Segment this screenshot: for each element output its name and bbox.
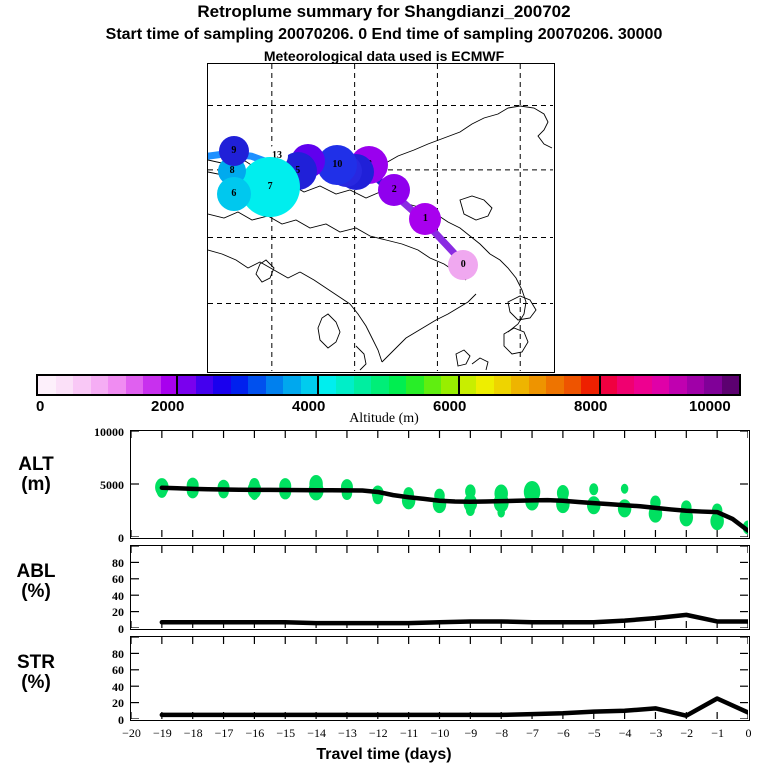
y-tick-label: 20 xyxy=(68,605,124,620)
x-tick-label: −1 xyxy=(701,726,735,741)
y-tick-label: 5000 xyxy=(68,478,124,493)
x-tick-label: −9 xyxy=(454,726,488,741)
x-tick-label: −3 xyxy=(639,726,673,741)
trajectory-marker-label: 7 xyxy=(268,182,273,192)
abl-row-label: ABL(%) xyxy=(6,562,66,602)
trajectory-marker-label: 8 xyxy=(230,166,235,176)
x-tick-label: −16 xyxy=(238,726,272,741)
str-row-label: STR(%) xyxy=(6,653,66,693)
y-tick-label: 80 xyxy=(68,647,124,662)
trajectory-marker: 9 xyxy=(219,136,249,166)
trajectory-marker-label: 0 xyxy=(461,260,466,270)
trajectory-marker-label: 1 xyxy=(423,214,428,224)
trajectory-map: 012312111045137869 xyxy=(207,63,555,373)
map-vector-layer xyxy=(208,64,553,371)
row-label-unit: (%) xyxy=(6,673,66,693)
str-panel xyxy=(130,636,750,721)
x-tick-label: −12 xyxy=(361,726,395,741)
y-tick-label: 60 xyxy=(68,572,124,587)
x-tick-label: −11 xyxy=(392,726,426,741)
x-tick-label: −13 xyxy=(330,726,364,741)
x-tick-label: −7 xyxy=(516,726,550,741)
trajectory-marker: 2 xyxy=(378,174,410,206)
y-tick-label: 60 xyxy=(68,663,124,678)
x-tick-label: −10 xyxy=(423,726,457,741)
row-label-name: ALT xyxy=(6,455,66,475)
y-tick-label: 40 xyxy=(68,589,124,604)
meteorological-data-note: Meteorological data used is ECMWF xyxy=(0,48,768,64)
x-tick-label: −5 xyxy=(577,726,611,741)
y-tick-label: 0 xyxy=(68,531,124,546)
row-label-name: ABL xyxy=(6,562,66,582)
x-tick-label: −15 xyxy=(269,726,303,741)
y-tick-label: 0 xyxy=(68,622,124,637)
x-tick-label: −4 xyxy=(608,726,642,741)
x-tick-label: −2 xyxy=(670,726,704,741)
x-tick-label: −6 xyxy=(546,726,580,741)
alt-panel xyxy=(130,430,750,539)
y-tick-label: 40 xyxy=(68,680,124,695)
str-plot-svg xyxy=(131,637,748,719)
abl-panel xyxy=(130,545,750,630)
x-tick-label: −17 xyxy=(207,726,241,741)
row-label-name: STR xyxy=(6,653,66,673)
alt-plot-svg xyxy=(131,431,748,537)
y-tick-label: 20 xyxy=(68,696,124,711)
alt-row-label: ALT(m) xyxy=(6,455,66,495)
trajectory-marker-label: 10 xyxy=(332,160,342,170)
trajectory-marker: 6 xyxy=(217,177,251,211)
x-tick-label: −14 xyxy=(300,726,334,741)
row-label-unit: (%) xyxy=(6,582,66,602)
trajectory-marker-label: 2 xyxy=(392,185,397,195)
sampling-time-subtitle: Start time of sampling 20070206. 0 End t… xyxy=(0,26,768,44)
x-tick-label: 0 xyxy=(732,726,766,741)
colorbar-separators xyxy=(36,374,741,396)
trajectory-marker-label: 9 xyxy=(231,146,236,156)
x-tick-label: −19 xyxy=(145,726,179,741)
x-axis-label: Travel time (days) xyxy=(0,746,768,764)
y-tick-label: 10000 xyxy=(68,425,124,440)
trajectory-marker: 1 xyxy=(409,203,441,235)
trajectory-marker-label: 6 xyxy=(231,189,236,199)
x-tick-label: −8 xyxy=(485,726,519,741)
y-tick-label: 80 xyxy=(68,556,124,571)
x-tick-label: −18 xyxy=(176,726,210,741)
x-tick-label: −20 xyxy=(115,726,149,741)
abl-plot-svg xyxy=(131,546,748,628)
row-label-unit: (m) xyxy=(6,475,66,495)
page-title: Retroplume summary for Shangdianzi_20070… xyxy=(0,2,768,22)
trajectory-marker: 0 xyxy=(448,250,478,280)
